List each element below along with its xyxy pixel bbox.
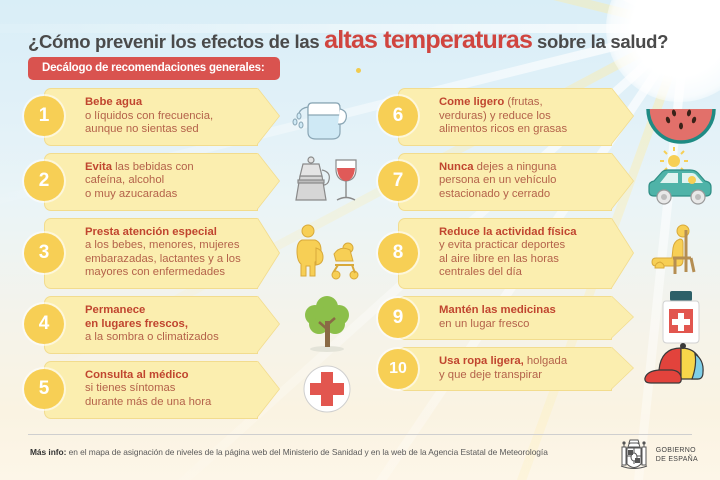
item-number-badge: 2 [24,161,64,201]
recommendation-item-6: 6Come ligero (frutas,verduras) y reduce … [372,88,720,145]
item-line: durante más de una hora [85,396,251,410]
title-highlight: altas temperaturas [324,26,532,54]
car-and-sun-icon [640,150,720,212]
item-line: mayores con enfermedades [85,266,251,280]
footer-note: Más info: en el mapa de asignación de ni… [30,447,548,457]
recommendation-item-1: 1Bebe aguao líquidos con frecuencia,aunq… [18,88,368,145]
item-line-rest: holgada [524,355,567,367]
red-cross-icon [286,358,368,420]
item-line-bold: Usa ropa ligera, [439,355,524,367]
footer-body: en el mapa de asignación de niveles de l… [66,447,548,457]
footer-divider [28,434,692,435]
seated-person-icon [640,222,720,284]
item-line: Nunca dejes a ninguna [439,161,605,175]
item-number-badge: 9 [378,298,418,338]
title-pre: ¿Cómo prevenir los efectos de las [28,31,324,52]
item-line-rest: (frutas, [504,96,542,108]
item-line-bold: Evita [85,161,112,173]
item-text-plate: Mantén las medicinasen un lugar fresco [398,296,612,340]
item-line: estacionado y cerrado [439,188,605,202]
item-line: verduras) y reduce los [439,110,605,124]
item-line: centrales del día [439,266,605,280]
recommendation-item-8: 8Reduce la actividad físicay evita pract… [372,218,720,288]
item-number-badge: 4 [24,304,64,344]
pregnant-woman-and-stroller-icon [286,222,368,284]
item-line: o muy azucaradas [85,188,251,202]
item-line: en lugares frescos, [85,318,251,332]
item-line: Come ligero (frutas, [439,96,605,110]
item-line-bold: Nunca [439,161,474,173]
infographic-poster: ¿Cómo prevenir los efectos de las altas … [0,0,720,480]
item-line: Presta atención especial [85,226,251,240]
tree-icon [286,293,368,355]
item-number-badge: 7 [378,161,418,201]
item-line: Mantén las medicinas [439,304,605,318]
recommendation-item-10: 10Usa ropa ligera, holgaday que deje tra… [372,347,720,390]
item-line: embarazadas, lactantes y a los [85,253,251,267]
item-line: Usa ropa ligera, holgada [439,355,605,369]
item-text-plate: Usa ropa ligera, holgaday que deje trans… [398,347,612,391]
recommendation-item-4: 4Permaneceen lugares frescos,a la sombra… [18,296,368,353]
footer-label: Más info: [30,447,66,457]
government-logo-text: GOBIERNO DE ESPAÑA [656,446,698,464]
item-number-badge: 3 [24,233,64,273]
item-text-plate: Consulta al médicosi tienes síntomasdura… [44,361,258,419]
item-text-plate: Come ligero (frutas,verduras) y reduce l… [398,88,612,146]
item-line-bold: Come ligero [439,96,504,108]
item-line: persona en un vehículo [439,174,605,188]
item-line: al aire libre en las horas [439,253,605,267]
title-post: sobre la salud? [532,31,668,52]
item-text-plate: Nunca dejes a ningunapersona en un vehíc… [398,153,612,211]
item-number-badge: 10 [378,349,418,389]
recommendation-item-5: 5Consulta al médicosi tienes síntomasdur… [18,361,368,418]
recommendations-column-left: 1Bebe aguao líquidos con frecuencia,aunq… [18,88,368,426]
item-line: Evita las bebidas con [85,161,251,175]
spark-dot [356,68,361,73]
subtitle-banner: Decálogo de recomendaciones generales: [28,57,280,80]
coffee-pot-and-wine-glass-icon [286,150,368,212]
item-line: aunque no sientas sed [85,123,251,137]
item-number-badge: 8 [378,233,418,273]
logo-line-1: GOBIERNO [656,446,698,455]
item-text-plate: Presta atención especiala los bebes, men… [44,218,258,289]
item-text-plate: Reduce la actividad físicay evita practi… [398,218,612,289]
item-line: Reduce la actividad física [439,226,605,240]
item-line: Permanece [85,304,251,318]
item-line: a la sombra o climatizados [85,331,251,345]
item-line-rest: las bebidas con [112,161,194,173]
item-number-badge: 6 [378,96,418,136]
watermelon-icon [640,85,720,147]
item-line: cafeína, alcohol [85,174,251,188]
water-pitcher-icon [286,85,368,147]
recommendation-item-3: 3Presta atención especiala los bebes, me… [18,218,368,288]
coat-of-arms-icon [619,437,649,473]
item-line: a los bebes, menores, mujeres [85,239,251,253]
item-text-plate: Bebe aguao líquidos con frecuencia,aunqu… [44,88,258,146]
item-text-plate: Evita las bebidas concafeína, alcoholo m… [44,153,258,211]
item-line: o líquidos con frecuencia, [85,110,251,124]
item-number-badge: 1 [24,96,64,136]
item-line: si tienes síntomas [85,382,251,396]
recommendation-item-9: 9Mantén las medicinasen un lugar fresco [372,296,720,339]
item-line: alimentos ricos en grasas [439,123,605,137]
page-title: ¿Cómo prevenir los efectos de las altas … [28,26,702,55]
item-line: en un lugar fresco [439,318,605,332]
recommendation-item-2: 2Evita las bebidas concafeína, alcoholo … [18,153,368,210]
item-line: y que deje transpirar [439,369,605,383]
item-text-plate: Permaneceen lugares frescos,a la sombra … [44,296,258,354]
item-line: Bebe agua [85,96,251,110]
recommendations-column-right: 6Come ligero (frutas,verduras) y reduce … [372,88,720,398]
item-number-badge: 5 [24,369,64,409]
item-line: y evita practicar deportes [439,239,605,253]
government-logo: GOBIERNO DE ESPAÑA [619,437,698,473]
item-line: Consulta al médico [85,369,251,383]
logo-line-2: DE ESPAÑA [656,455,698,464]
recommendation-item-7: 7Nunca dejes a ningunapersona en un vehí… [372,153,720,210]
item-line-rest: dejes a ninguna [474,161,557,173]
cap-icon [640,338,720,400]
